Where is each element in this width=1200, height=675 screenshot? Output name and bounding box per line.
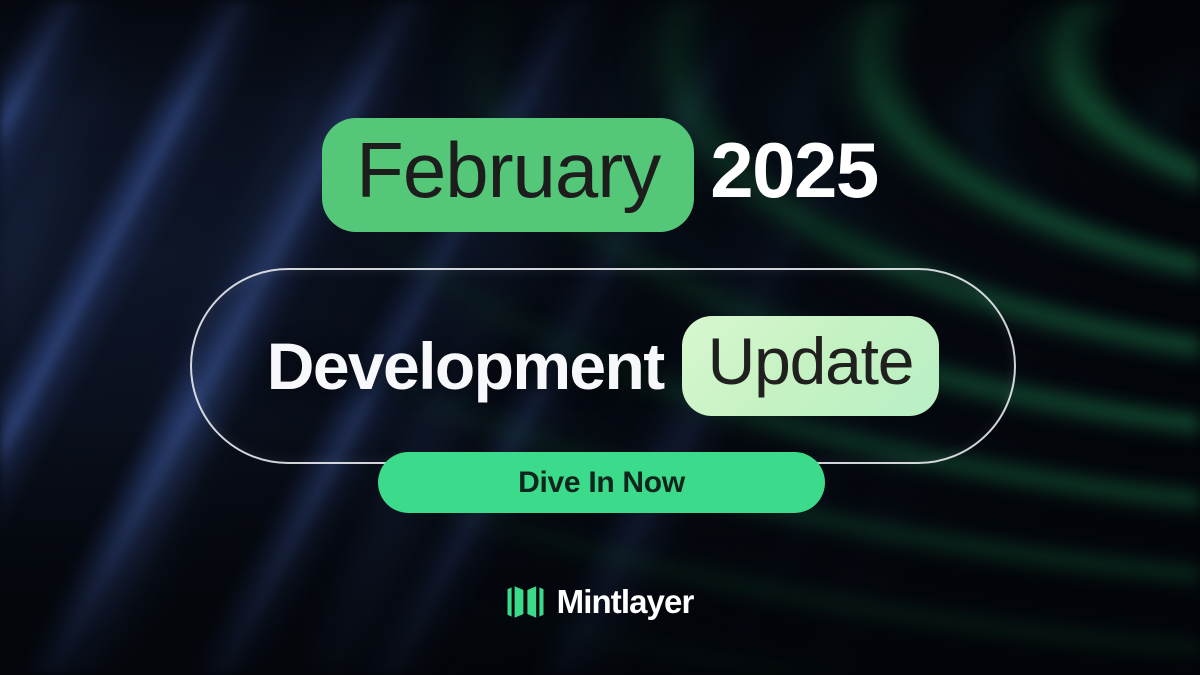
dive-in-now-button[interactable]: Dive In Now: [378, 452, 825, 513]
promo-banner: February 2025 Development Update Dive In…: [0, 0, 1200, 675]
headline-highlight-badge: Update: [682, 316, 940, 417]
headline-primary: Development: [267, 328, 664, 404]
brand-lockup: Mintlayer: [0, 583, 1200, 621]
month-badge: February: [322, 118, 694, 232]
date-row: February 2025: [0, 118, 1200, 232]
headline-row: Development Update: [190, 268, 1016, 464]
mintlayer-bars-icon: [507, 585, 544, 619]
year-label: 2025: [710, 124, 878, 226]
banner-content: February 2025 Development Update Dive In…: [0, 0, 1200, 675]
brand-wordmark: Mintlayer: [557, 583, 694, 621]
